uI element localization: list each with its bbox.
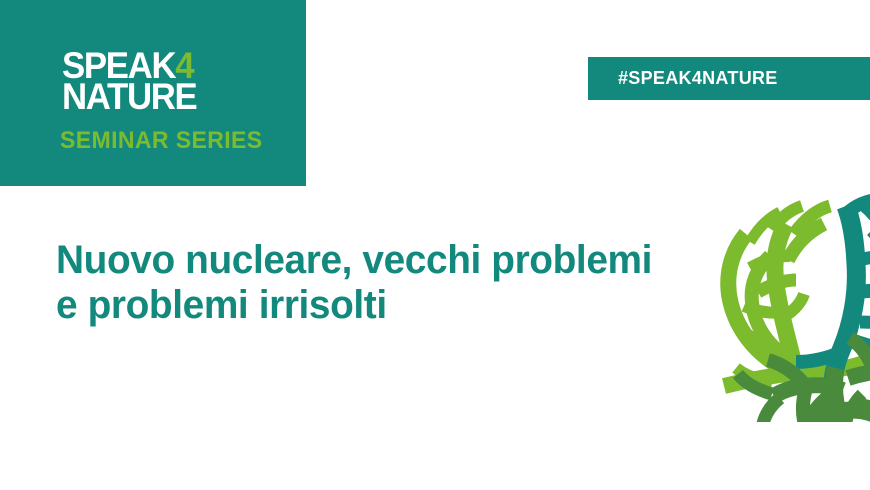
- hashtag-banner: #SPEAK4NATURE: [588, 57, 870, 100]
- brand-tagline: SEMINAR SERIES: [60, 127, 263, 155]
- tree-logo-icon: [684, 172, 870, 422]
- page-title-line-1: Nuovo nucleare, vecchi problemi: [56, 238, 657, 283]
- page-title-line-2: e problemi irrisolti: [56, 283, 657, 328]
- hashtag-label: #SPEAK4NATURE: [618, 68, 778, 89]
- page-title: Nuovo nucleare, vecchi problemi e proble…: [56, 238, 657, 328]
- brand-logo: SPEAK4 NATURE: [62, 50, 205, 112]
- brand-logo-line-2: NATURE: [62, 81, 196, 112]
- brand-panel: SPEAK4 NATURE SEMINAR SERIES: [0, 0, 306, 186]
- slide-canvas: SPEAK4 NATURE SEMINAR SERIES #SPEAK4NATU…: [0, 0, 870, 490]
